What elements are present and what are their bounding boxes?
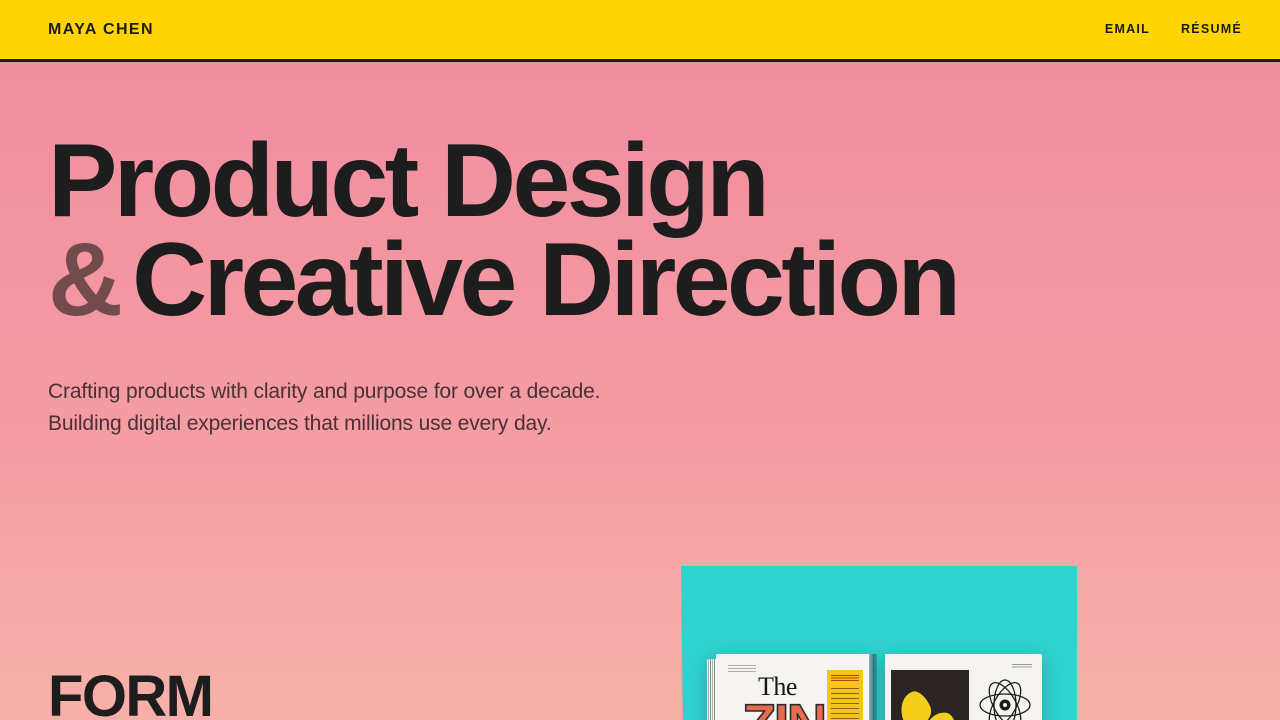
site-header: MAYA CHEN EMAIL RÉSUMÉ (0, 0, 1280, 62)
hero-title-line-1: Product Design (48, 132, 1232, 231)
page-title: Product Design &Creative Direction (48, 132, 1232, 331)
sidebar-heading-lines (831, 675, 859, 683)
hero-artwork: The ZIN (681, 566, 1077, 720)
magazine-left-page: The ZIN (716, 654, 873, 720)
sidebar-body-lines (831, 688, 859, 720)
section-heading-form: FORM (48, 668, 212, 720)
ampersand-glyph: & (48, 222, 132, 338)
magazine-right-page (885, 654, 1042, 720)
brand-logo[interactable]: MAYA CHEN (48, 22, 154, 38)
magazine-spine (869, 654, 877, 720)
hero-subtitle-line-2: Building digital experiences that millio… (48, 408, 1232, 440)
hero-title-line-2: &Creative Direction (48, 231, 1232, 330)
hero-section: Product Design &Creative Direction Craft… (0, 62, 1280, 439)
dark-illustration-panel (891, 670, 969, 720)
open-magazine: The ZIN (716, 654, 1042, 720)
right-page-folio-text (1012, 664, 1032, 669)
left-page-meta-text (728, 665, 756, 672)
nav-link-email[interactable]: EMAIL (1105, 23, 1150, 36)
hero-title-line-2-text: Creative Direction (132, 222, 957, 338)
nav-link-resume[interactable]: RÉSUMÉ (1181, 23, 1242, 36)
hero-subtitle: Crafting products with clarity and purpo… (48, 376, 1232, 440)
primary-nav: EMAIL RÉSUMÉ (1105, 23, 1242, 36)
hero-subtitle-line-1: Crafting products with clarity and purpo… (48, 376, 1232, 408)
atom-diagram-icon (977, 678, 1033, 720)
left-page-yellow-sidebar (827, 670, 863, 720)
pear-shape-icon (895, 688, 936, 720)
zine-wordmark: ZIN (742, 696, 825, 720)
